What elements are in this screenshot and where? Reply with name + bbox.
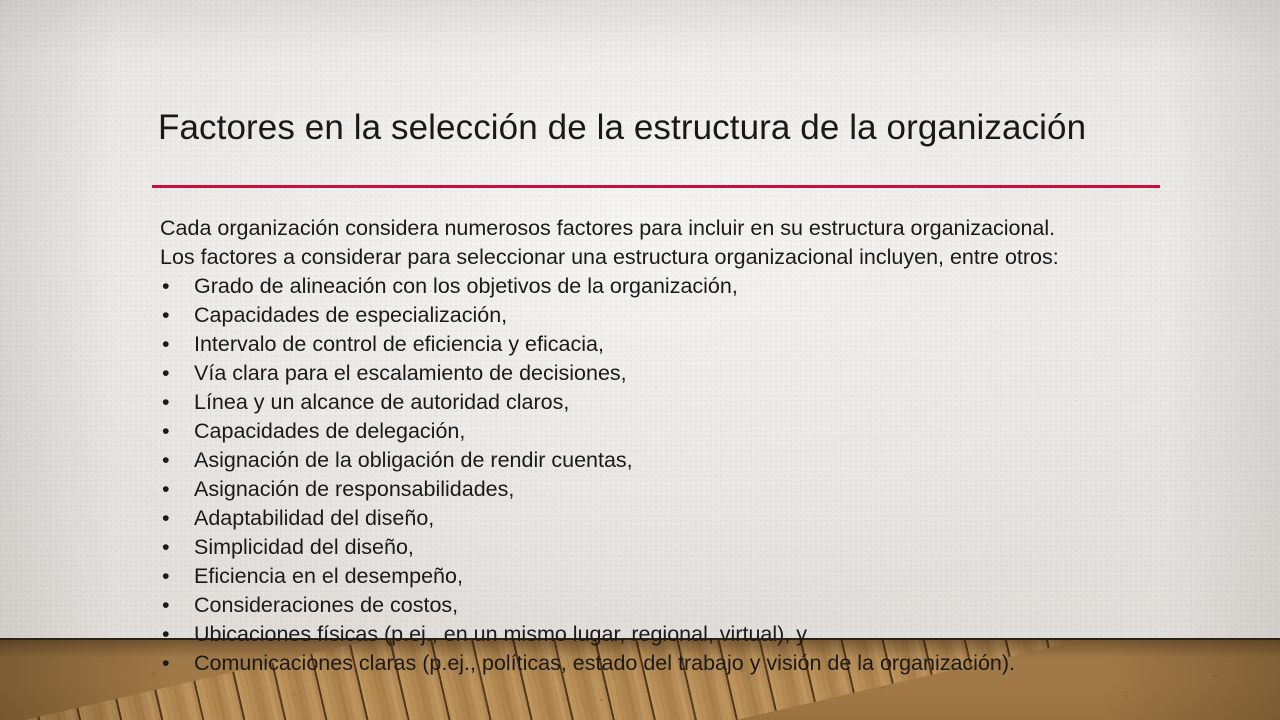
list-item-label: Comunicaciones claras (p.ej., políticas,… (194, 651, 1015, 675)
bullet-dot-icon: • (162, 388, 170, 417)
list-item: •Ubicaciones físicas (p.ej., en un mismo… (160, 620, 1180, 649)
bullet-dot-icon: • (162, 417, 170, 446)
list-item: •Comunicaciones claras (p.ej., políticas… (160, 649, 1180, 678)
list-item-label: Asignación de responsabilidades, (194, 477, 514, 501)
bullet-dot-icon: • (162, 649, 170, 678)
list-item-label: Capacidades de delegación, (194, 419, 465, 443)
list-item: •Asignación de responsabilidades, (160, 475, 1180, 504)
intro-paragraph: Cada organización considera numerosos fa… (160, 214, 1180, 272)
bullet-dot-icon: • (162, 591, 170, 620)
bullet-dot-icon: • (162, 446, 170, 475)
bullet-dot-icon: • (162, 272, 170, 301)
list-item-label: Intervalo de control de eficiencia y efi… (194, 332, 604, 356)
bullet-dot-icon: • (162, 359, 170, 388)
list-item-label: Vía clara para el escalamiento de decisi… (194, 361, 627, 385)
bullet-dot-icon: • (162, 475, 170, 504)
list-item: •Consideraciones de costos, (160, 591, 1180, 620)
list-item: •Línea y un alcance de autoridad claros, (160, 388, 1180, 417)
presentation-slide: Factores en la selección de la estructur… (0, 0, 1280, 720)
list-item: •Grado de alineación con los objetivos d… (160, 272, 1180, 301)
intro-line-2: Los factores a considerar para seleccion… (160, 243, 1180, 272)
list-item-label: Ubicaciones físicas (p.ej., en un mismo … (194, 622, 807, 646)
bullet-dot-icon: • (162, 301, 170, 330)
list-item: •Vía clara para el escalamiento de decis… (160, 359, 1180, 388)
list-item: •Capacidades de delegación, (160, 417, 1180, 446)
bullet-dot-icon: • (162, 533, 170, 562)
list-item: •Eficiencia en el desempeño, (160, 562, 1180, 591)
slide-body: Cada organización considera numerosos fa… (160, 214, 1180, 678)
slide-title: Factores en la selección de la estructur… (158, 107, 1178, 148)
list-item-label: Capacidades de especialización, (194, 303, 507, 327)
intro-line-1: Cada organización considera numerosos fa… (160, 216, 1055, 240)
list-item-label: Consideraciones de costos, (194, 593, 458, 617)
list-item-label: Simplicidad del diseño, (194, 535, 414, 559)
list-item-label: Grado de alineación con los objetivos de… (194, 274, 738, 298)
list-item-label: Línea y un alcance de autoridad claros, (194, 390, 569, 414)
factors-bullet-list: •Grado de alineación con los objetivos d… (160, 272, 1180, 678)
list-item: •Intervalo de control de eficiencia y ef… (160, 330, 1180, 359)
bullet-dot-icon: • (162, 620, 170, 649)
list-item-label: Asignación de la obligación de rendir cu… (194, 448, 633, 472)
title-underline-rule (152, 185, 1160, 188)
list-item: •Asignación de la obligación de rendir c… (160, 446, 1180, 475)
list-item-label: Eficiencia en el desempeño, (194, 564, 463, 588)
list-item-label: Adaptabilidad del diseño, (194, 506, 434, 530)
list-item: •Simplicidad del diseño, (160, 533, 1180, 562)
bullet-dot-icon: • (162, 330, 170, 359)
list-item: •Adaptabilidad del diseño, (160, 504, 1180, 533)
list-item: •Capacidades de especialización, (160, 301, 1180, 330)
bullet-dot-icon: • (162, 504, 170, 533)
bullet-dot-icon: • (162, 562, 170, 591)
